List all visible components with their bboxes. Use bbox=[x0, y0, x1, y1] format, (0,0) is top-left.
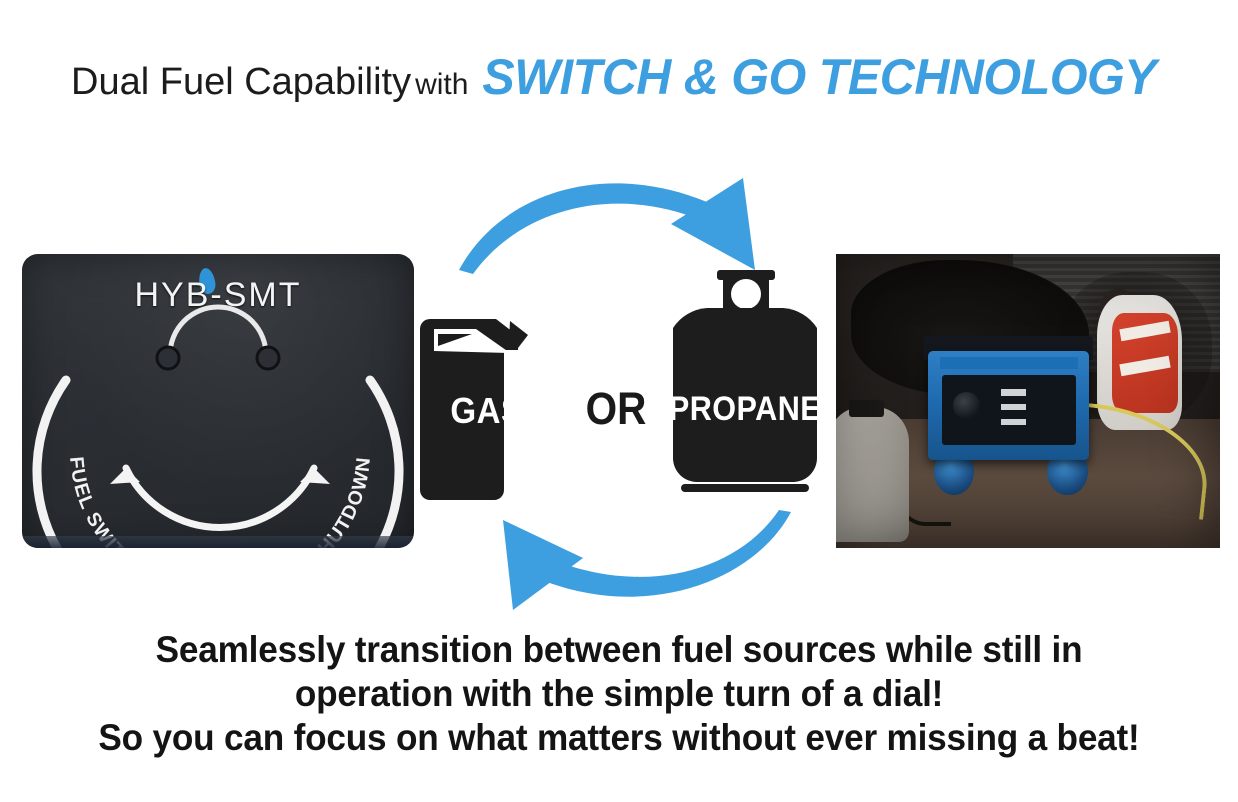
caption-line-2: operation with the simple turn of a dial… bbox=[31, 672, 1207, 716]
curved-arrow-left-icon bbox=[455, 508, 795, 618]
curved-arrow-right-icon bbox=[455, 158, 795, 274]
propane-tank-large-icon bbox=[659, 266, 831, 496]
dial-bracket-arc bbox=[170, 307, 266, 355]
caption-block: Seamlessly transition between fuel sourc… bbox=[0, 628, 1238, 760]
arc-right bbox=[370, 380, 399, 548]
panel-arc-graphics bbox=[22, 254, 414, 548]
rotation-arrow-left bbox=[110, 468, 140, 484]
rotation-arc bbox=[126, 468, 314, 528]
photo-vignette bbox=[836, 254, 1220, 548]
or-divider-label: OR bbox=[579, 383, 653, 435]
page-title: Dual Fuel CapabilitywithSWITCH & GO TECH… bbox=[0, 48, 1238, 106]
rotation-arrow-right bbox=[300, 468, 330, 484]
generator-photo bbox=[836, 254, 1220, 548]
promo-graphic: Dual Fuel CapabilitywithSWITCH & GO TECH… bbox=[0, 0, 1238, 802]
dial-bracket-bolt-left bbox=[157, 347, 179, 369]
headline-accent-text: SWITCH & GO TECHNOLOGY bbox=[483, 48, 1157, 106]
gas-can-label: GAS bbox=[418, 390, 556, 432]
caption-line-3: So you can focus on what matters without… bbox=[31, 716, 1207, 760]
headline-plain-text: Dual Fuel Capability bbox=[71, 61, 411, 103]
arc-left bbox=[37, 380, 66, 548]
fuel-selector-panel[interactable]: HYB-SMT GA bbox=[22, 254, 414, 548]
propane-tank-label: PROPANE bbox=[668, 390, 823, 429]
caption-line-1: Seamlessly transition between fuel sourc… bbox=[31, 628, 1207, 672]
panel-base-strip bbox=[22, 536, 414, 548]
headline-connector-word: with bbox=[411, 68, 472, 101]
dial-bracket-bolt-right bbox=[257, 347, 279, 369]
